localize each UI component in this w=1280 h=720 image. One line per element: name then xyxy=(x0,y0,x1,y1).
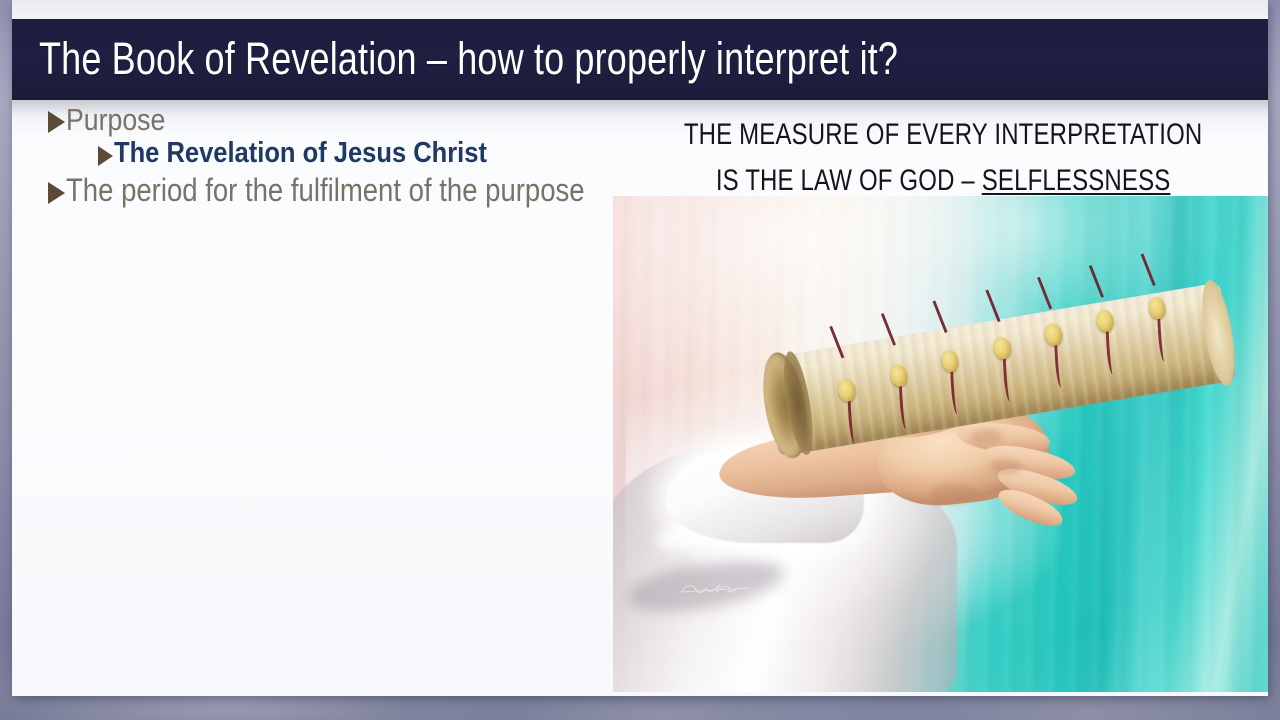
triangle-bullet-icon xyxy=(48,182,65,204)
palm-shadow xyxy=(930,484,976,504)
slide-title-text: The Book of Revelation – how to properly… xyxy=(39,32,898,84)
scroll-picture xyxy=(613,196,1268,692)
measure-heading-line-1-text: THE MEASURE OF EVERY INTERPRETATION xyxy=(684,112,1203,158)
bullet-item-period-for-fulfilment: The period for the fulfilment of the pur… xyxy=(48,174,618,206)
bullet-label: The period for the fulfilment of the pur… xyxy=(66,174,585,206)
presentation-slide: The Book of Revelation – how to properly… xyxy=(12,0,1268,696)
triangle-bullet-icon xyxy=(48,111,65,133)
measure-heading: THE MEASURE OF EVERY INTERPRETATION IS T… xyxy=(613,112,1268,203)
knuckle-shadow xyxy=(970,429,1003,444)
artist-signature xyxy=(676,580,772,598)
triangle-bullet-icon xyxy=(98,146,113,166)
measure-heading-selflessness: SELFLESSNESS xyxy=(982,164,1171,197)
slide-title-band: The Book of Revelation – how to properly… xyxy=(12,19,1268,100)
knuckle-shadow xyxy=(990,459,1023,474)
bullet-item-revelation-of-jesus-christ: The Revelation of Jesus Christ xyxy=(98,139,618,168)
slide-title: The Book of Revelation – how to properly… xyxy=(39,32,1113,84)
bullet-item-purpose: Purpose xyxy=(48,104,618,135)
bullet-label: The Revelation of Jesus Christ xyxy=(114,139,487,168)
bullet-list: Purpose The Revelation of Jesus Christ T… xyxy=(48,104,618,206)
measure-heading-line-2-prefix: IS THE LAW OF GOD – xyxy=(716,164,982,197)
bullet-label: Purpose xyxy=(66,104,165,135)
measure-heading-line-1: THE MEASURE OF EVERY INTERPRETATION xyxy=(613,112,1268,158)
